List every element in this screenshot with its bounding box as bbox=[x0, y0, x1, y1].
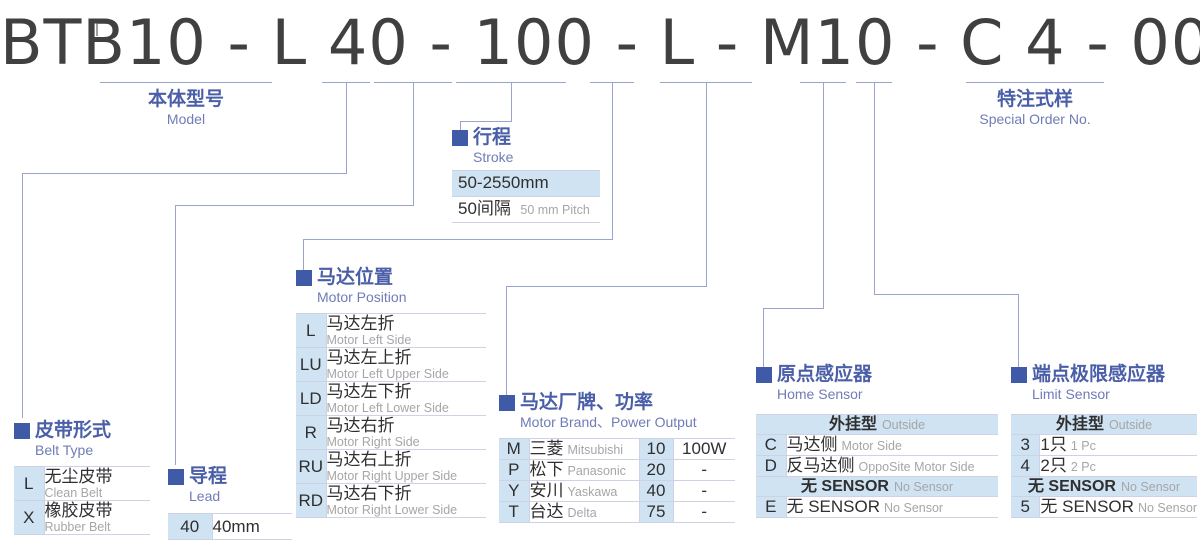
home-sensor-band-outside-en: Outside bbox=[882, 418, 925, 432]
belt-type-code: X bbox=[14, 501, 44, 535]
section-stroke: 行程 Stroke bbox=[452, 127, 513, 166]
stroke-value-box: 50-2550mm 50间隔 50 mm Pitch bbox=[452, 170, 600, 223]
power-code: 20 bbox=[639, 460, 673, 481]
leader-lead-run bbox=[175, 205, 414, 206]
lead-title: 导程 bbox=[168, 466, 227, 488]
lead-table: 40 40mm bbox=[168, 513, 292, 540]
special-order-label: 特注式样 Special Order No. bbox=[966, 88, 1104, 128]
motor-position-desc-en: Motor Left Lower Side bbox=[327, 401, 487, 415]
power-value: - bbox=[673, 502, 735, 523]
section-belt-type: 皮带形式 Belt Type bbox=[14, 420, 111, 459]
motor-position-desc-cn: 马达左下折 bbox=[327, 382, 487, 401]
table-row: LU 马达左上折 Motor Left Upper Side bbox=[296, 348, 486, 382]
limit-sensor-band-outside-en: Outside bbox=[1109, 418, 1152, 432]
limit-sensor-desc-cn: 2只 bbox=[1040, 456, 1066, 475]
limit-sensor-title-en: Limit Sensor bbox=[1032, 386, 1165, 403]
home-sensor-band-outside: 外挂型Outside bbox=[756, 415, 998, 435]
motor-position-table: L 马达左折 Motor Left Side LU 马达左上折 Motor Le… bbox=[296, 313, 486, 518]
motor-position-code: LD bbox=[296, 382, 326, 416]
motor-brand-desc-cn: 安川 bbox=[530, 481, 564, 500]
motor-brand-title-en: Motor Brand、Power Output bbox=[520, 414, 697, 431]
table-row: R 马达右折 Motor Right Side bbox=[296, 416, 486, 450]
section-motor-brand: 马达厂牌、功率 Motor Brand、Power Output bbox=[499, 392, 697, 431]
home-sensor-title: 原点感应器 bbox=[756, 364, 872, 386]
home-sensor-desc-cn: 反马达侧 bbox=[787, 456, 855, 475]
power-value: - bbox=[673, 460, 735, 481]
table-row: M 三菱Mitsubishi 10 100W bbox=[499, 439, 735, 460]
belt-type-desc-en: Rubber Belt bbox=[45, 520, 151, 534]
section-lead: 导程 Lead bbox=[168, 466, 227, 505]
limit-sensor-title: 端点极限感应器 bbox=[1011, 364, 1165, 386]
motor-brand-table: M 三菱Mitsubishi 10 100W P 松下Panasonic 20 … bbox=[499, 438, 735, 523]
motor-brand-desc: 三菱Mitsubishi bbox=[529, 439, 639, 460]
motor-position-title-en: Motor Position bbox=[317, 289, 406, 306]
leader-limit-sensor-down bbox=[1018, 294, 1019, 368]
leader-lead-drop bbox=[413, 82, 414, 206]
home-sensor-desc-en: Motor Side bbox=[842, 439, 902, 453]
part-number: BTB10 - L 40 - 100 - L - M10 - C 4 - 000… bbox=[0, 8, 1200, 78]
belt-type-desc: 无尘皮带 Clean Belt bbox=[44, 467, 150, 501]
motor-position-desc-en: Motor Right Side bbox=[327, 435, 487, 449]
belt-type-desc: 橡胶皮带 Rubber Belt bbox=[44, 501, 150, 535]
model-label-cn: 本体型号 bbox=[100, 88, 272, 111]
home-sensor-band-outside-cn: 外挂型 bbox=[829, 416, 877, 433]
leader-belt-type-down bbox=[22, 173, 23, 418]
part-number-configuration-diagram: BTB10 - L 40 - 100 - L - M10 - C 4 - 000… bbox=[0, 0, 1200, 551]
lead-title-en: Lead bbox=[189, 488, 227, 505]
limit-sensor-code: 4 bbox=[1011, 456, 1040, 477]
limit-sensor-band-nosensor: 无 SENSORNo Sensor bbox=[1011, 477, 1197, 497]
table-row: P 松下Panasonic 20 - bbox=[499, 460, 735, 481]
table-row: E 无 SENSORNo Sensor bbox=[756, 497, 998, 518]
stroke-title-cn: 行程 bbox=[473, 127, 511, 149]
leader-belt-type-run bbox=[22, 173, 347, 174]
belt-type-title-en: Belt Type bbox=[35, 442, 111, 459]
home-sensor-band-nosensor-en: No Sensor bbox=[894, 480, 953, 494]
home-sensor-code: D bbox=[756, 456, 786, 477]
motor-brand-code: M bbox=[499, 439, 529, 460]
bullet-square-icon bbox=[452, 130, 468, 146]
belt-type-desc-cn: 无尘皮带 bbox=[45, 467, 151, 486]
special-order-label-cn: 特注式样 bbox=[966, 88, 1104, 111]
limit-sensor-desc-en: 2 Pc bbox=[1071, 460, 1096, 474]
motor-brand-title-cn: 马达厂牌、功率 bbox=[520, 392, 653, 414]
home-sensor-title-cn: 原点感应器 bbox=[777, 364, 872, 386]
table-row: L 无尘皮带 Clean Belt bbox=[14, 467, 150, 501]
bullet-square-icon bbox=[1011, 367, 1027, 383]
limit-sensor-code: 3 bbox=[1011, 435, 1040, 456]
motor-position-desc: 马达左下折 Motor Left Lower Side bbox=[326, 382, 486, 416]
table-row: C 马达侧Motor Side bbox=[756, 435, 998, 456]
motor-brand-desc-cn: 台达 bbox=[530, 502, 564, 521]
motor-brand-code: Y bbox=[499, 481, 529, 502]
table-row: D 反马达侧OppoSite Motor Side bbox=[756, 456, 998, 477]
home-sensor-desc-en: OppoSite Motor Side bbox=[859, 460, 975, 474]
motor-position-desc-cn: 马达左上折 bbox=[327, 348, 487, 367]
leader-limit-sensor-run bbox=[874, 294, 1019, 295]
home-sensor-desc: 反马达侧OppoSite Motor Side bbox=[786, 456, 998, 477]
home-sensor-band-nosensor-cn: 无 SENSOR bbox=[801, 478, 889, 495]
stroke-pitch-cn: 50间隔 bbox=[458, 199, 511, 218]
stroke-title: 行程 bbox=[452, 127, 513, 149]
limit-sensor-desc: 2只2 Pc bbox=[1040, 456, 1197, 477]
motor-brand-desc: 台达Delta bbox=[529, 502, 639, 523]
home-sensor-code: C bbox=[756, 435, 786, 456]
limit-sensor-band-outside: 外挂型Outside bbox=[1011, 415, 1197, 435]
motor-position-code: R bbox=[296, 416, 326, 450]
motor-brand-title: 马达厂牌、功率 bbox=[499, 392, 697, 414]
stroke-pitch: 50间隔 50 mm Pitch bbox=[452, 197, 600, 223]
bullet-square-icon bbox=[756, 367, 772, 383]
motor-position-title-cn: 马达位置 bbox=[317, 267, 393, 289]
stroke-title-en: Stroke bbox=[473, 149, 513, 166]
leader-home-sensor-drop bbox=[823, 82, 824, 309]
motor-brand-desc-cn: 松下 bbox=[530, 460, 564, 479]
section-limit-sensor: 端点极限感应器 Limit Sensor bbox=[1011, 364, 1165, 403]
motor-position-code: RU bbox=[296, 450, 326, 484]
motor-brand-desc-en: Mitsubishi bbox=[568, 443, 624, 457]
table-row: RD 马达右下折 Motor Right Lower Side bbox=[296, 484, 486, 518]
section-home-sensor: 原点感应器 Home Sensor bbox=[756, 364, 872, 403]
home-sensor-code: E bbox=[756, 497, 786, 518]
bullet-square-icon bbox=[14, 423, 30, 439]
underline-model bbox=[100, 82, 272, 83]
leader-motor-position-run bbox=[303, 239, 613, 240]
motor-position-desc: 马达左折 Motor Left Side bbox=[326, 314, 486, 348]
table-row: 40 40mm bbox=[168, 514, 292, 540]
limit-sensor-band-outside-cn: 外挂型 bbox=[1056, 416, 1104, 433]
motor-position-code: LU bbox=[296, 348, 326, 382]
leader-stroke-drop bbox=[511, 82, 512, 122]
section-motor-position: 马达位置 Motor Position bbox=[296, 267, 406, 306]
power-value: 100W bbox=[673, 439, 735, 460]
home-sensor-table: 外挂型Outside C 马达侧Motor Side D 反马达侧OppoSit… bbox=[756, 414, 998, 518]
table-row: L 马达左折 Motor Left Side bbox=[296, 314, 486, 348]
home-sensor-desc-en: No Sensor bbox=[884, 501, 943, 515]
underline-special-order bbox=[966, 82, 1104, 83]
limit-sensor-code: 5 bbox=[1011, 497, 1040, 518]
lead-value: 40mm bbox=[212, 514, 292, 540]
motor-position-desc: 马达右下折 Motor Right Lower Side bbox=[326, 484, 486, 518]
table-row: 4 2只2 Pc bbox=[1011, 456, 1197, 477]
home-sensor-desc: 马达侧Motor Side bbox=[786, 435, 998, 456]
motor-position-desc: 马达右上折 Motor Right Upper Side bbox=[326, 450, 486, 484]
limit-sensor-table: 外挂型Outside 3 1只1 Pc 4 2只2 Pc 无 SENSORNo … bbox=[1011, 414, 1197, 518]
power-code: 10 bbox=[639, 439, 673, 460]
motor-position-title: 马达位置 bbox=[296, 267, 406, 289]
home-sensor-title-en: Home Sensor bbox=[777, 386, 872, 403]
table-row: LD 马达左下折 Motor Left Lower Side bbox=[296, 382, 486, 416]
limit-sensor-desc-en: 1 Pc bbox=[1071, 439, 1096, 453]
table-band-row: 无 SENSORNo Sensor bbox=[756, 477, 998, 497]
motor-position-desc-cn: 马达右下折 bbox=[327, 484, 487, 503]
special-order-label-en: Special Order No. bbox=[966, 111, 1104, 128]
belt-type-code: L bbox=[14, 467, 44, 501]
table-row: 3 1只1 Pc bbox=[1011, 435, 1197, 456]
leader-home-sensor-down bbox=[763, 308, 764, 368]
lead-title-cn: 导程 bbox=[189, 466, 227, 488]
home-sensor-desc: 无 SENSORNo Sensor bbox=[786, 497, 998, 518]
motor-position-desc: 马达右折 Motor Right Side bbox=[326, 416, 486, 450]
belt-type-desc-cn: 橡胶皮带 bbox=[45, 501, 151, 520]
motor-brand-code: P bbox=[499, 460, 529, 481]
table-row: X 橡胶皮带 Rubber Belt bbox=[14, 501, 150, 535]
motor-brand-desc-cn: 三菱 bbox=[530, 439, 564, 458]
motor-position-desc-cn: 马达右折 bbox=[327, 416, 487, 435]
home-sensor-desc-cn: 无 SENSOR bbox=[787, 497, 881, 516]
home-sensor-desc-cn: 马达侧 bbox=[787, 435, 838, 454]
limit-sensor-band-nosensor-cn: 无 SENSOR bbox=[1028, 478, 1116, 495]
leader-limit-sensor-drop bbox=[874, 82, 875, 295]
leader-motor-position-drop bbox=[612, 82, 613, 240]
motor-brand-desc-en: Yaskawa bbox=[568, 485, 618, 499]
power-value: - bbox=[673, 481, 735, 502]
belt-type-title-cn: 皮带形式 bbox=[35, 420, 111, 442]
leader-belt-type-drop bbox=[346, 82, 347, 174]
motor-brand-desc: 松下Panasonic bbox=[529, 460, 639, 481]
stroke-pitch-en: 50 mm Pitch bbox=[520, 203, 589, 217]
table-row: T 台达Delta 75 - bbox=[499, 502, 735, 523]
bullet-square-icon bbox=[296, 270, 312, 286]
leader-lead-down bbox=[175, 205, 176, 465]
motor-position-desc-en: Motor Right Lower Side bbox=[327, 503, 487, 517]
limit-sensor-desc-cn: 无 SENSOR bbox=[1040, 497, 1134, 516]
motor-brand-desc-en: Delta bbox=[568, 506, 597, 520]
motor-position-desc-en: Motor Right Upper Side bbox=[327, 469, 487, 483]
limit-sensor-desc-en: No Sensor bbox=[1138, 501, 1197, 515]
lead-value-text: 40mm bbox=[213, 514, 293, 539]
belt-type-table: L 无尘皮带 Clean Belt X 橡胶皮带 Rubber Belt bbox=[14, 466, 150, 535]
table-row: 5 无 SENSORNo Sensor bbox=[1011, 497, 1197, 518]
motor-position-desc-en: Motor Left Upper Side bbox=[327, 367, 487, 381]
leader-home-sensor-run bbox=[763, 308, 824, 309]
model-label-en: Model bbox=[100, 111, 272, 128]
belt-type-desc-en: Clean Belt bbox=[45, 486, 151, 500]
leader-motor-brand-down bbox=[506, 286, 507, 399]
motor-position-code: L bbox=[296, 314, 326, 348]
power-code: 40 bbox=[639, 481, 673, 502]
limit-sensor-desc-cn: 1只 bbox=[1040, 435, 1066, 454]
motor-position-desc-cn: 马达左折 bbox=[327, 314, 487, 333]
limit-sensor-title-cn: 端点极限感应器 bbox=[1032, 364, 1165, 386]
lead-code: 40 bbox=[168, 514, 212, 540]
home-sensor-band-nosensor: 无 SENSORNo Sensor bbox=[756, 477, 998, 497]
table-row: Y 安川Yaskawa 40 - bbox=[499, 481, 735, 502]
leader-motor-brand-drop bbox=[706, 82, 707, 287]
motor-brand-code: T bbox=[499, 502, 529, 523]
motor-position-desc-cn: 马达右上折 bbox=[327, 450, 487, 469]
table-row: RU 马达右上折 Motor Right Upper Side bbox=[296, 450, 486, 484]
motor-brand-desc-en: Panasonic bbox=[568, 464, 626, 478]
power-code: 75 bbox=[639, 502, 673, 523]
motor-position-code: RD bbox=[296, 484, 326, 518]
motor-position-desc: 马达左上折 Motor Left Upper Side bbox=[326, 348, 486, 382]
limit-sensor-desc: 无 SENSORNo Sensor bbox=[1040, 497, 1197, 518]
bullet-square-icon bbox=[168, 469, 184, 485]
limit-sensor-desc: 1只1 Pc bbox=[1040, 435, 1197, 456]
bullet-square-icon bbox=[499, 395, 515, 411]
stroke-range: 50-2550mm bbox=[452, 170, 600, 197]
belt-type-title: 皮带形式 bbox=[14, 420, 111, 442]
leader-stroke-run bbox=[460, 121, 512, 122]
limit-sensor-band-nosensor-en: No Sensor bbox=[1121, 480, 1180, 494]
table-band-row: 外挂型Outside bbox=[756, 415, 998, 435]
leader-motor-brand-run bbox=[506, 286, 707, 287]
motor-position-desc-en: Motor Left Side bbox=[327, 333, 487, 347]
motor-brand-desc: 安川Yaskawa bbox=[529, 481, 639, 502]
model-label: 本体型号 Model bbox=[100, 88, 272, 128]
table-band-row: 无 SENSORNo Sensor bbox=[1011, 477, 1197, 497]
table-band-row: 外挂型Outside bbox=[1011, 415, 1197, 435]
